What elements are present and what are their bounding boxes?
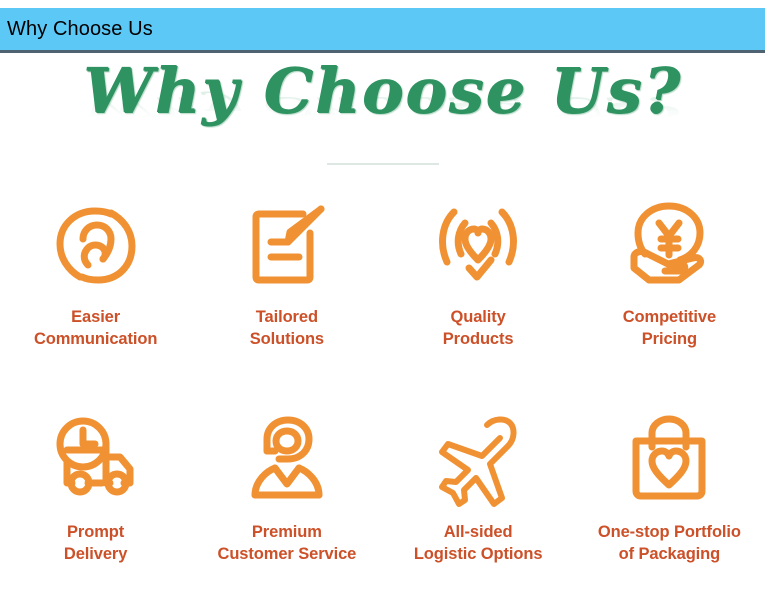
airplane-icon — [430, 407, 526, 515]
hand-yen-coin-icon — [621, 192, 717, 300]
hero-section: Why Choose Us? Why Choose Us? — [0, 56, 765, 168]
feature-label: Tailored Solutions — [250, 306, 324, 350]
delivery-truck-clock-icon — [48, 407, 144, 515]
page-content: Why Choose Us? Why Choose Us? Easier Com… — [0, 56, 765, 599]
shopping-bag-heart-icon — [621, 407, 717, 515]
title-divider — [327, 163, 439, 165]
feature-label: One-stop Portfolio of Packaging — [598, 521, 741, 565]
feature-item-tailored-solutions[interactable]: Tailored Solutions — [191, 186, 382, 401]
headset-agent-icon — [239, 407, 335, 515]
window-header: Why Choose Us — [0, 8, 765, 53]
feature-item-all-sided-logistic-options[interactable]: All-sided Logistic Options — [383, 401, 574, 616]
feature-item-easier-communication[interactable]: Easier Communication — [0, 186, 191, 401]
feature-grid: Easier Communication Tailored Solutions — [0, 186, 765, 616]
heart-signal-check-icon — [430, 192, 526, 300]
feature-item-competitive-pricing[interactable]: Competitive Pricing — [574, 186, 765, 401]
feature-label: Premium Customer Service — [218, 521, 357, 565]
feature-label: Quality Products — [443, 306, 514, 350]
feature-label: Easier Communication — [34, 306, 157, 350]
document-pencil-icon — [239, 192, 335, 300]
feature-item-quality-products[interactable]: Quality Products — [383, 186, 574, 401]
ear-listening-icon — [48, 192, 144, 300]
feature-label: Prompt Delivery — [64, 521, 127, 565]
feature-item-premium-customer-service[interactable]: Premium Customer Service — [191, 401, 382, 616]
feature-item-one-stop-portfolio[interactable]: One-stop Portfolio of Packaging — [574, 401, 765, 616]
feature-label: Competitive Pricing — [623, 306, 716, 350]
window-title: Why Choose Us — [0, 18, 153, 41]
feature-label: All-sided Logistic Options — [414, 521, 543, 565]
page-title: Why Choose Us? — [0, 54, 765, 128]
feature-item-prompt-delivery[interactable]: Prompt Delivery — [0, 401, 191, 616]
